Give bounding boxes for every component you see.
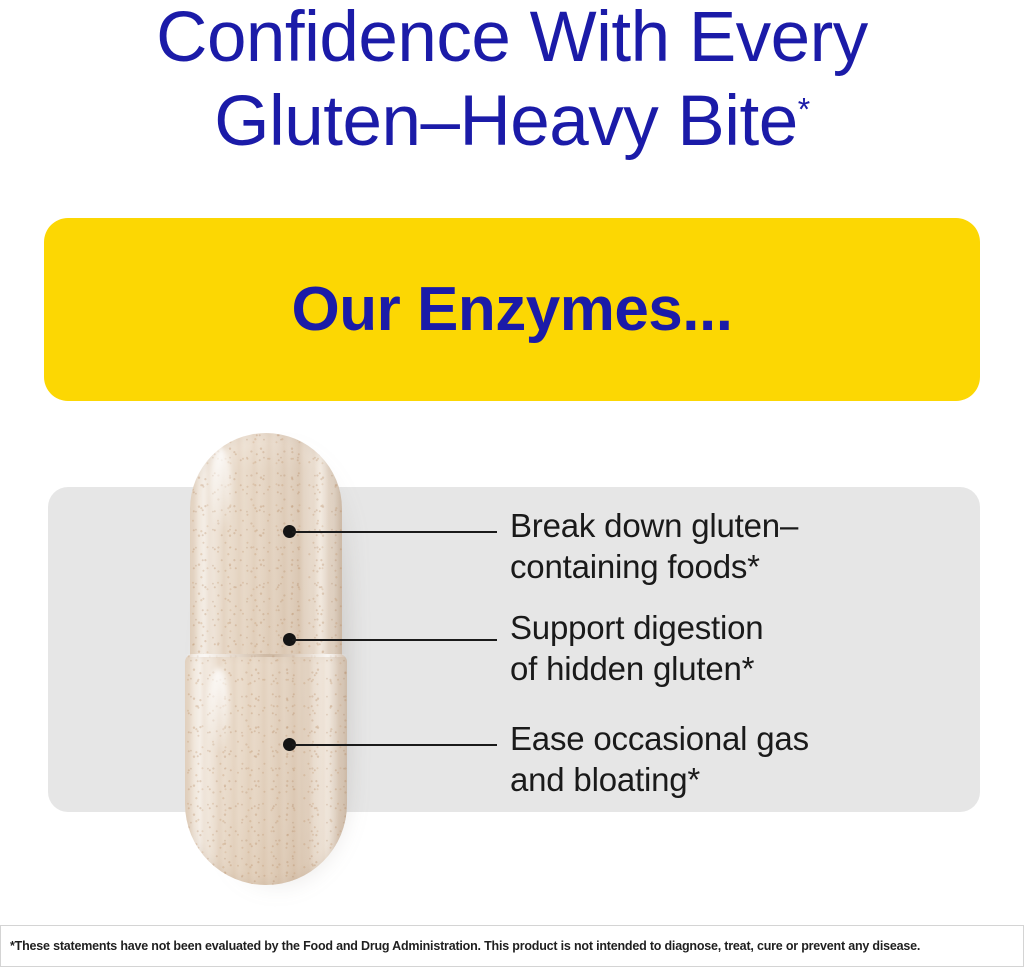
benefit-item-2: Support digestion of hidden gluten* [510, 607, 763, 689]
capsule-body-highlight [208, 668, 229, 751]
headline-line-2: Gluten–Heavy Bite* [0, 80, 1024, 164]
capsule-cap-highlight [211, 447, 231, 531]
callout-line-3 [292, 744, 497, 746]
benefit-item-3: Ease occasional gas and bloating* [510, 718, 809, 800]
headline-line-2-text: Gluten–Heavy Bite [214, 82, 798, 161]
enzymes-banner-label: Our Enzymes... [44, 218, 980, 401]
disclaimer-box: *These statements have not been evaluate… [0, 925, 1024, 967]
benefit-item-1: Break down gluten– containing foods* [510, 505, 798, 587]
callout-line-2 [292, 639, 497, 641]
capsule-cap [190, 433, 342, 667]
headline-asterisk: * [798, 91, 810, 127]
capsule-joint-line [185, 654, 347, 657]
infographic-canvas: Confidence With Every Gluten–Heavy Bite*… [0, 0, 1024, 967]
headline-line-1: Confidence With Every [0, 0, 1024, 80]
enzymes-banner: Our Enzymes... [44, 218, 980, 401]
callout-line-1 [292, 531, 497, 533]
capsule-image [182, 428, 362, 890]
disclaimer-text: *These statements have not been evaluate… [1, 939, 929, 954]
page-title: Confidence With Every Gluten–Heavy Bite* [0, 0, 1024, 164]
capsule-body [185, 654, 347, 885]
